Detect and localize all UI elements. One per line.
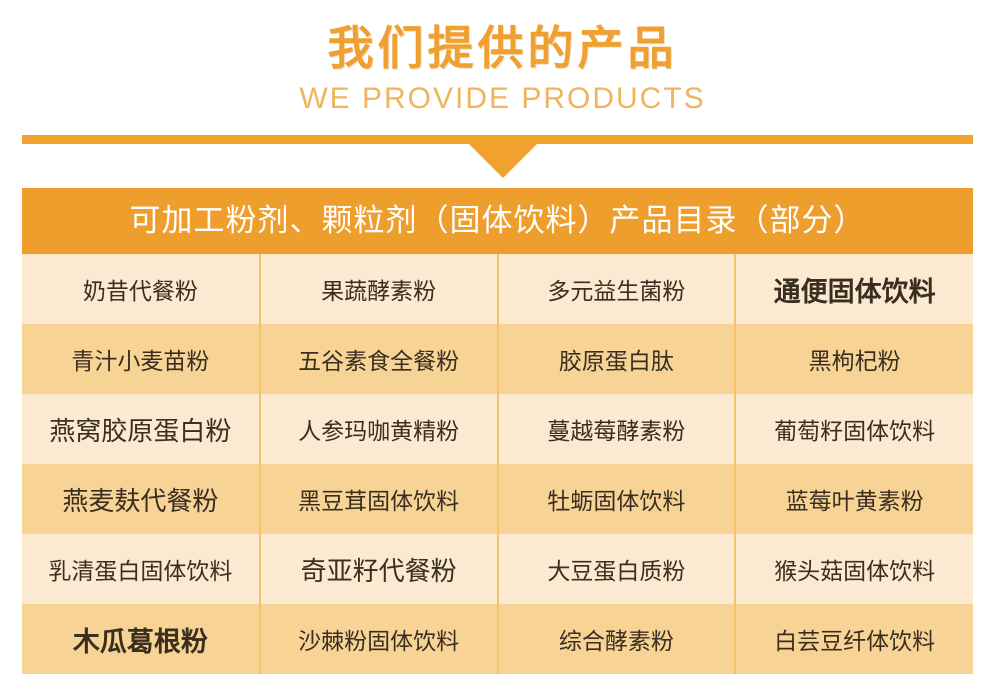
page-subtitle-en: WE PROVIDE PRODUCTS bbox=[0, 81, 1005, 117]
page-title-cn: 我们提供的产品 bbox=[0, 22, 1005, 75]
divider-rule-with-arrow bbox=[0, 135, 1005, 183]
triangle-down-icon bbox=[469, 144, 537, 178]
product-cell: 胶原蛋白肽 bbox=[498, 324, 736, 394]
product-cell: 大豆蛋白质粉 bbox=[498, 534, 736, 604]
product-cell: 黑豆茸固体饮料 bbox=[260, 464, 498, 534]
table-row: 奶昔代餐粉果蔬酵素粉多元益生菌粉通便固体饮料 bbox=[22, 254, 973, 324]
product-cell: 蔓越莓酵素粉 bbox=[498, 394, 736, 464]
product-cell: 沙棘粉固体饮料 bbox=[260, 604, 498, 674]
product-cell: 五谷素食全餐粉 bbox=[260, 324, 498, 394]
product-cell: 奶昔代餐粉 bbox=[22, 254, 260, 324]
table-row: 燕窝胶原蛋白粉人参玛咖黄精粉蔓越莓酵素粉葡萄籽固体饮料 bbox=[22, 394, 973, 464]
product-cell: 多元益生菌粉 bbox=[498, 254, 736, 324]
product-cell: 通便固体饮料 bbox=[735, 254, 973, 324]
product-cell: 燕麦麸代餐粉 bbox=[22, 464, 260, 534]
product-cell: 果蔬酵素粉 bbox=[260, 254, 498, 324]
table-row: 木瓜葛根粉沙棘粉固体饮料综合酵素粉白芸豆纤体饮料 bbox=[22, 604, 973, 674]
page-heading: 我们提供的产品 WE PROVIDE PRODUCTS bbox=[0, 0, 1005, 117]
divider-bar bbox=[22, 135, 973, 144]
product-cell: 奇亚籽代餐粉 bbox=[260, 534, 498, 604]
catalog-table: 奶昔代餐粉果蔬酵素粉多元益生菌粉通便固体饮料青汁小麦苗粉五谷素食全餐粉胶原蛋白肽… bbox=[22, 254, 973, 674]
catalog-table-wrapper: 可加工粉剂、颗粒剂（固体饮料）产品目录（部分） 奶昔代餐粉果蔬酵素粉多元益生菌粉… bbox=[22, 188, 973, 674]
table-row: 燕麦麸代餐粉黑豆茸固体饮料牡蛎固体饮料蓝莓叶黄素粉 bbox=[22, 464, 973, 534]
table-row: 乳清蛋白固体饮料奇亚籽代餐粉大豆蛋白质粉猴头菇固体饮料 bbox=[22, 534, 973, 604]
product-cell: 牡蛎固体饮料 bbox=[498, 464, 736, 534]
catalog-table-body: 奶昔代餐粉果蔬酵素粉多元益生菌粉通便固体饮料青汁小麦苗粉五谷素食全餐粉胶原蛋白肽… bbox=[22, 254, 973, 674]
product-cell: 人参玛咖黄精粉 bbox=[260, 394, 498, 464]
product-cell: 蓝莓叶黄素粉 bbox=[735, 464, 973, 534]
product-cell: 青汁小麦苗粉 bbox=[22, 324, 260, 394]
product-cell: 乳清蛋白固体饮料 bbox=[22, 534, 260, 604]
product-cell: 综合酵素粉 bbox=[498, 604, 736, 674]
table-row: 青汁小麦苗粉五谷素食全餐粉胶原蛋白肽黑枸杞粉 bbox=[22, 324, 973, 394]
product-catalog-page: 我们提供的产品 WE PROVIDE PRODUCTS 可加工粉剂、颗粒剂（固体… bbox=[0, 0, 1005, 678]
product-cell: 白芸豆纤体饮料 bbox=[735, 604, 973, 674]
product-cell: 葡萄籽固体饮料 bbox=[735, 394, 973, 464]
catalog-table-title: 可加工粉剂、颗粒剂（固体饮料）产品目录（部分） bbox=[22, 188, 973, 254]
product-cell: 燕窝胶原蛋白粉 bbox=[22, 394, 260, 464]
product-cell: 木瓜葛根粉 bbox=[22, 604, 260, 674]
product-cell: 猴头菇固体饮料 bbox=[735, 534, 973, 604]
product-cell: 黑枸杞粉 bbox=[735, 324, 973, 394]
